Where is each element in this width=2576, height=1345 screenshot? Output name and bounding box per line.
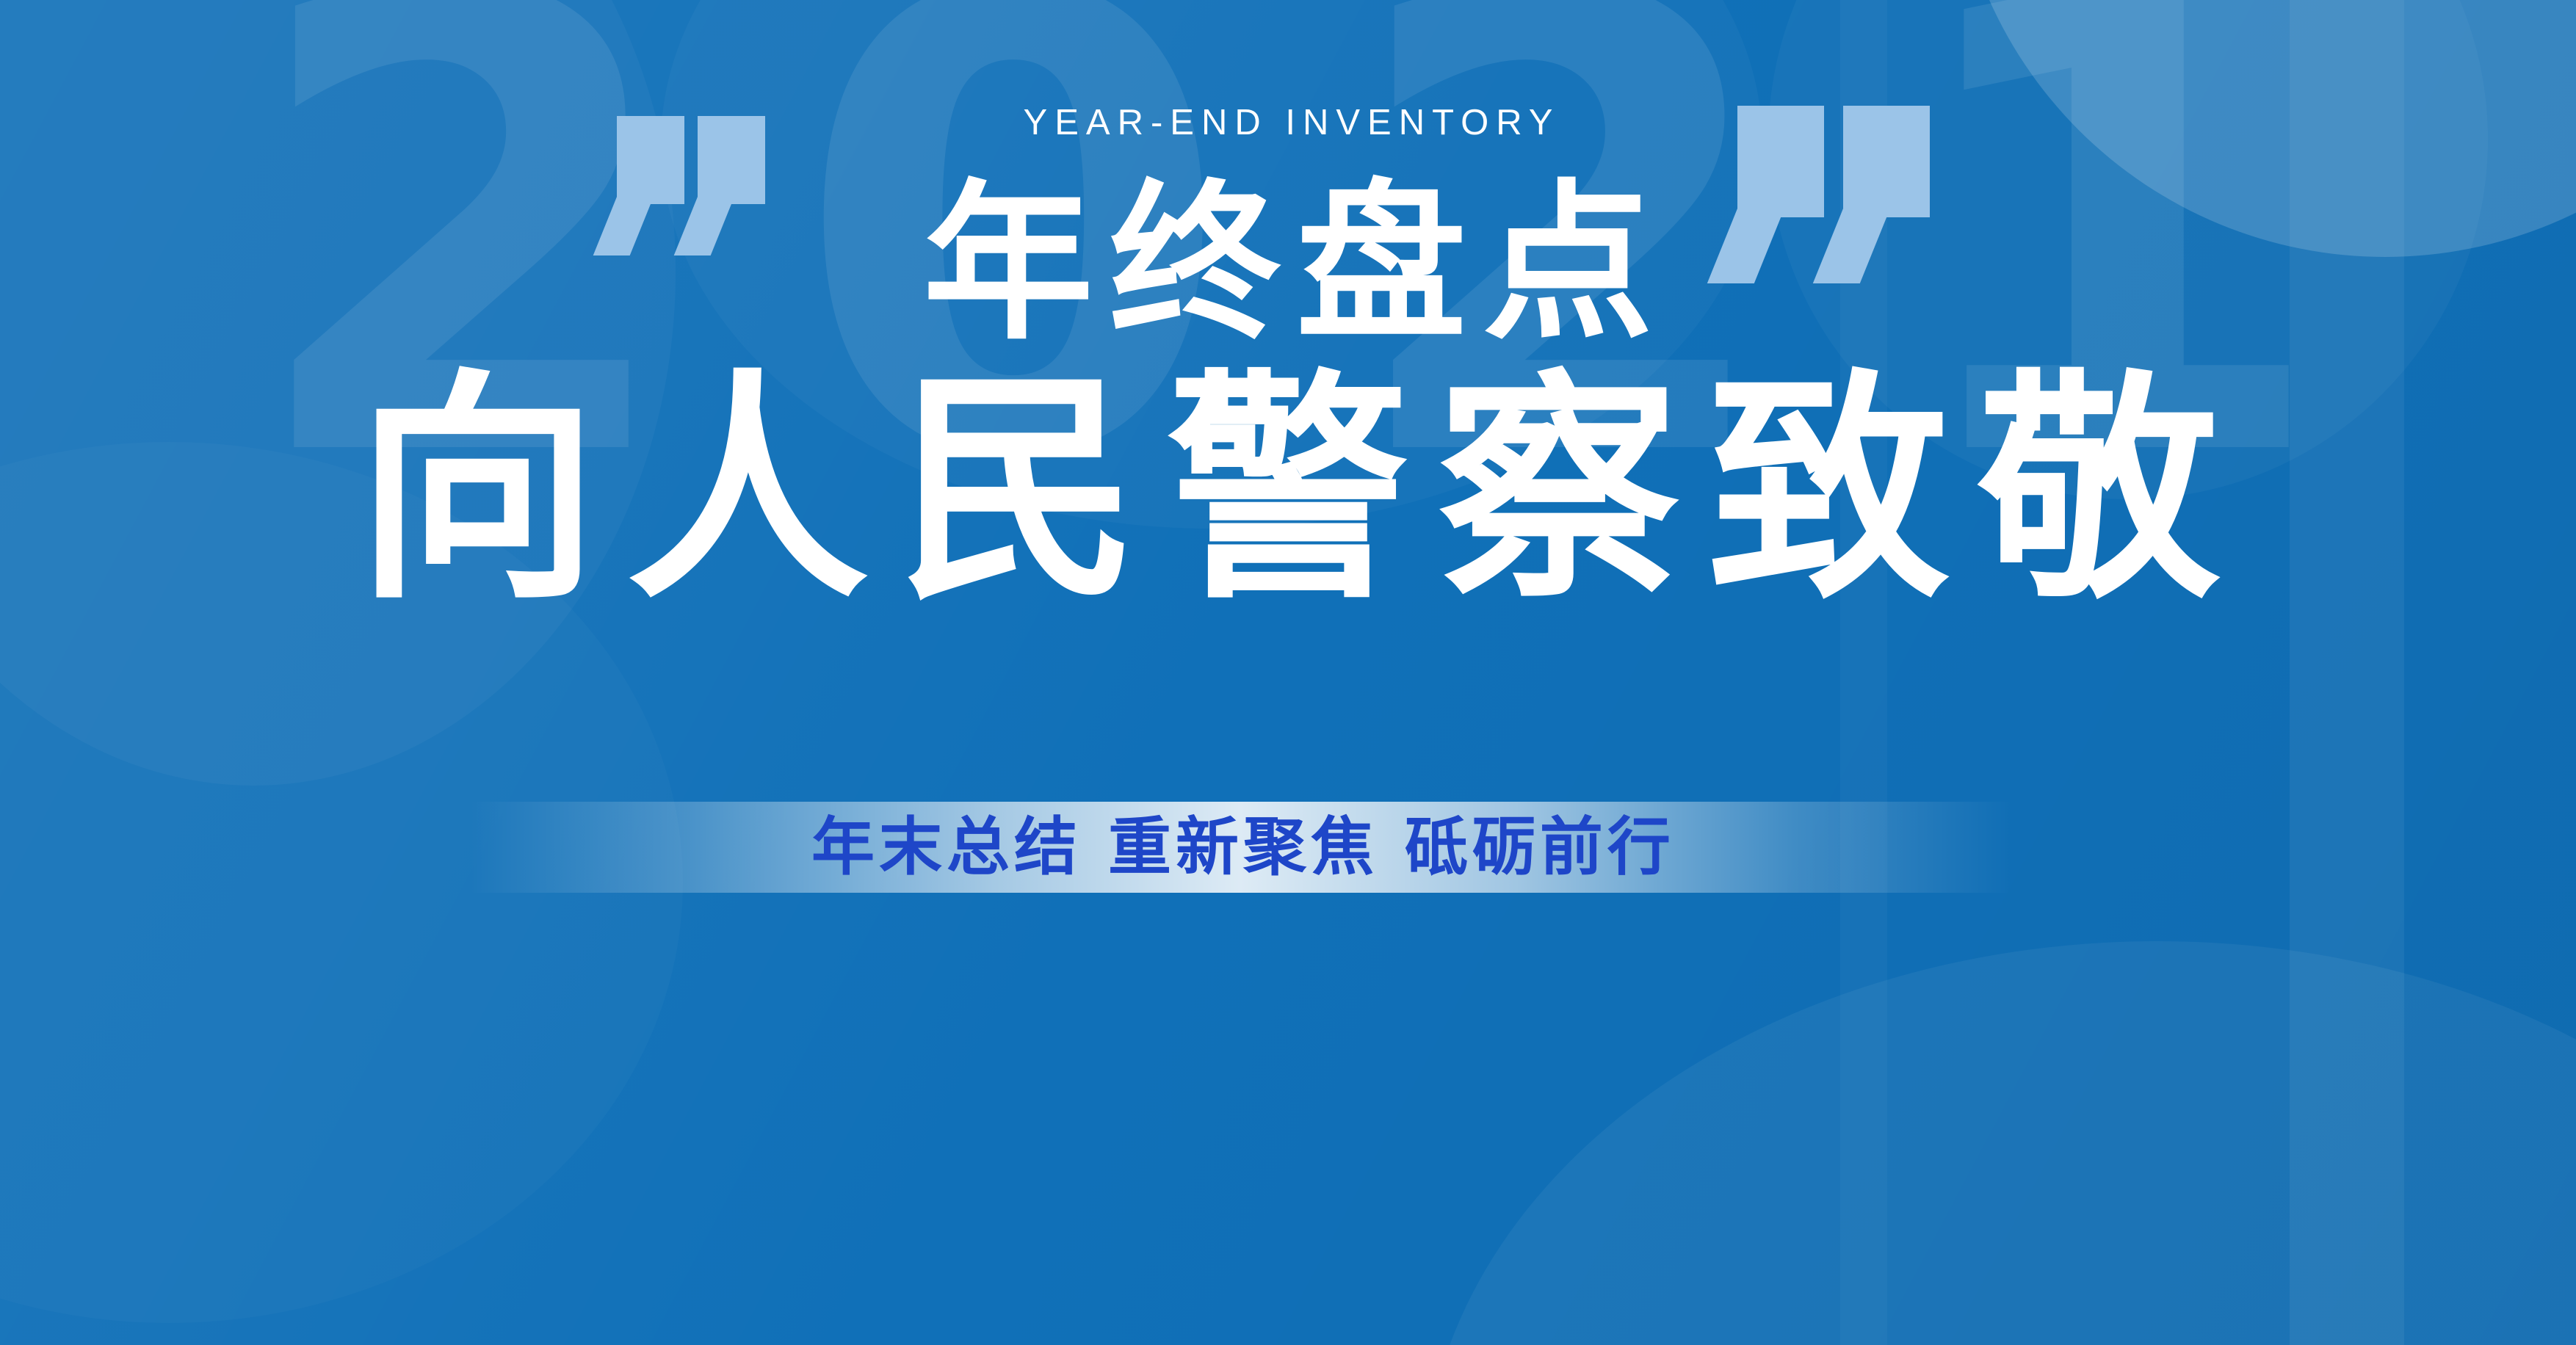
subtitle-text: 年末总结 重新聚焦 砥砺前行 <box>807 816 1675 879</box>
headline-line-2: 向人民警察致敬 <box>328 358 2248 624</box>
headline-line-1: 年终盘点 <box>907 172 1669 356</box>
poster-banner: 2021 YEAR-END INVENTORY 年终盘点 向人民警察致敬 <box>0 0 2576 1345</box>
poster-content: YEAR-END INVENTORY 年终盘点 向人民警察致敬 <box>0 0 2576 1345</box>
eyebrow-label: YEAR-END INVENTORY <box>1016 105 1560 141</box>
subtitle-ribbon: 年末总结 重新聚焦 砥砺前行 <box>470 802 2012 893</box>
